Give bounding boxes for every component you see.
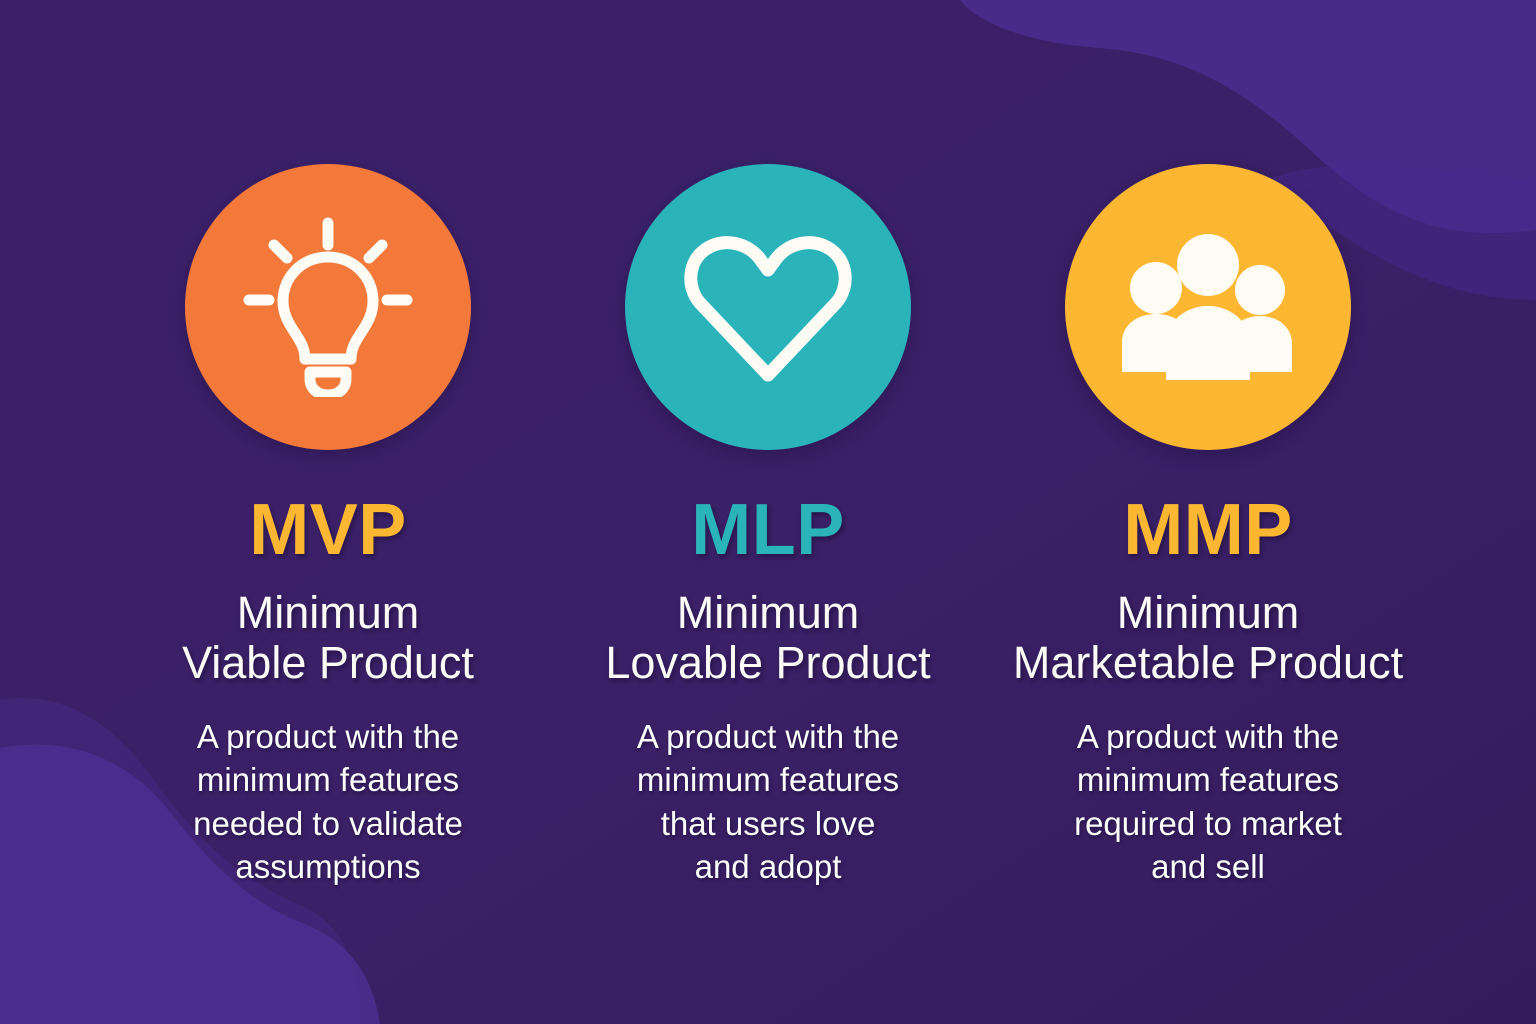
infographic-canvas: MVP Minimum Viable Product A product wit… [0,0,1536,1024]
description-mlp: A product with the minimum features that… [596,715,941,889]
description-mvp: A product with the minimum features need… [153,715,503,889]
person-center-body [1166,306,1250,380]
people-group-icon [1118,232,1298,382]
description-mmp: A product with the minimum features requ… [1021,715,1396,889]
title-mmp: Minimum Marketable Product [973,588,1443,689]
title-mlp: Minimum Lovable Product [558,588,978,689]
icon-circle-mlp [625,164,911,450]
heart-icon [680,227,856,387]
icon-circle-mvp [185,164,471,450]
person-left-head [1130,262,1182,314]
columns-container: MVP Minimum Viable Product A product wit… [0,0,1536,1024]
heart-outline [691,243,845,375]
icon-circle-mmp [1065,164,1351,450]
column-mmp: MMP Minimum Marketable Product A product… [988,164,1428,889]
person-center-head [1177,234,1239,296]
lightbulb-icon [243,217,413,397]
acronym-mmp: MMP [1123,494,1292,566]
person-right-head [1235,265,1285,315]
acronym-mvp: MVP [249,494,407,566]
column-mvp: MVP Minimum Viable Product A product wit… [108,164,548,889]
acronym-mlp: MLP [691,494,844,566]
column-mlp: MLP Minimum Lovable Product A product wi… [548,164,988,889]
title-mvp: Minimum Viable Product [118,588,538,689]
